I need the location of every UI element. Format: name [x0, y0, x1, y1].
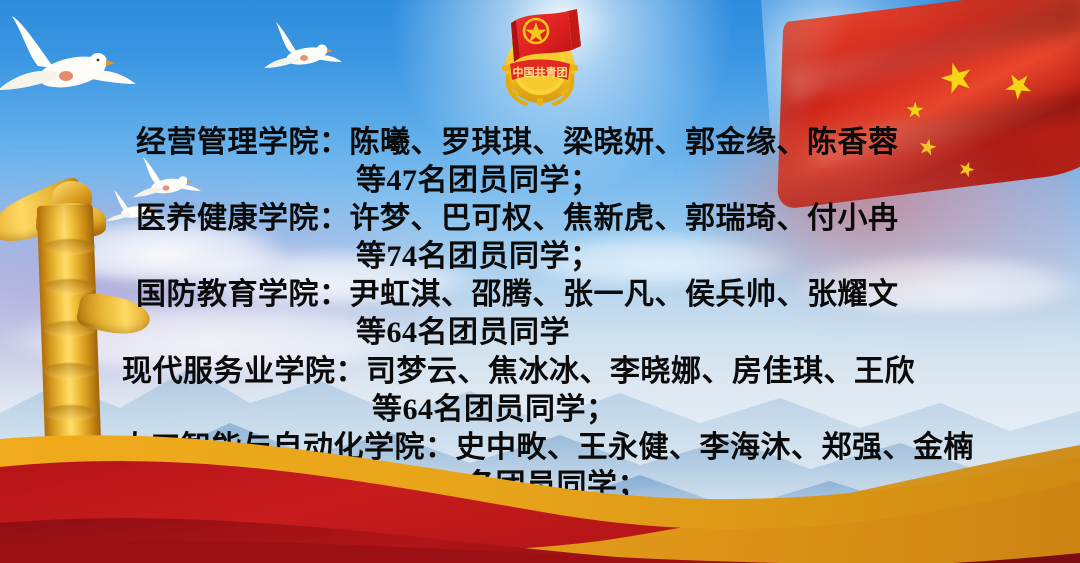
poster-canvas: ★ ★ ★ ★ ★ — [0, 0, 1080, 563]
roster-head-line: 现代服务业学院：司梦云、焦冰冰、李晓娜、房佳琪、王欣 — [20, 353, 1060, 391]
roster-entry: 国防教育学院：尹虹淇、邵腾、张一凡、侯兵帅、张耀文 等64名团员同学 — [20, 276, 1060, 352]
roster-entry: 现代服务业学院：司梦云、焦冰冰、李晓娜、房佳琪、王欣 等64名团员同学； — [20, 353, 1060, 429]
communist-youth-league-emblem: 中国共青团 — [486, 6, 594, 114]
emblem-inscription: 中国共青团 — [513, 65, 568, 79]
roster-head-line: 经营管理学院：陈曦、罗琪琪、梁晓妍、郭金缘、陈香蓉 — [20, 124, 1060, 162]
roster-cont-line: 等47名团员同学； — [20, 162, 1060, 200]
roster-head-line: 国防教育学院：尹虹淇、邵腾、张一凡、侯兵帅、张耀文 — [20, 276, 1060, 314]
roster-head-line: 医养健康学院：许梦、巴可权、焦新虎、郭瑞琦、付小冉 — [20, 200, 1060, 238]
roster-cont-line: 等64名团员同学 — [20, 314, 1060, 352]
red-gold-ribbons — [0, 423, 1080, 563]
roster-cont-line: 等74名团员同学； — [20, 238, 1060, 276]
roster-entry: 经营管理学院：陈曦、罗琪琪、梁晓妍、郭金缘、陈香蓉 等47名团员同学； — [20, 124, 1060, 200]
roster-entry: 医养健康学院：许梦、巴可权、焦新虎、郭瑞琦、付小冉 等74名团员同学； — [20, 200, 1060, 276]
